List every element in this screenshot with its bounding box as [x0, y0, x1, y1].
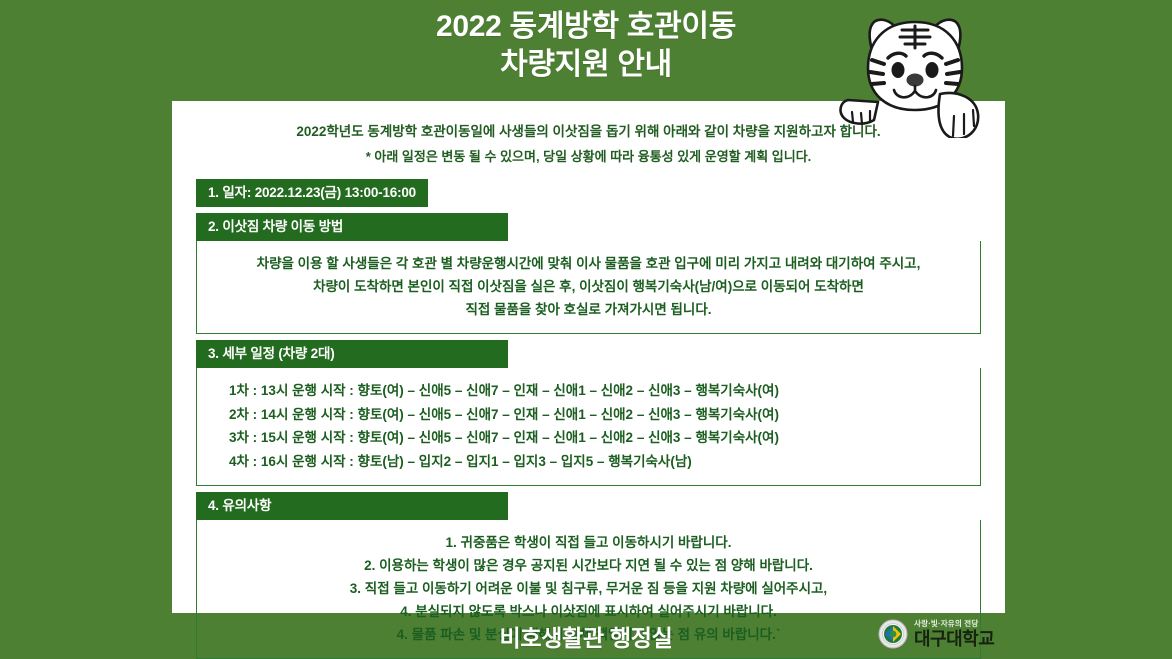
note-line-1: 1. 귀중품은 학생이 직접 들고 이동하시기 바랍니다.: [207, 531, 970, 554]
poster-footer: 비호생활관 행정실 사랑·빛·자유의 전당 대구대학교: [0, 613, 1172, 659]
university-brand: 사랑·빛·자유의 전당 대구대학교: [878, 619, 994, 649]
method-line-3: 직접 물품을 찾아 호실로 가져가시면 됩니다.: [207, 298, 970, 321]
section-schedule-heading: 3. 세부 일정 (차량 2대): [196, 340, 508, 368]
poster-title: 2022 동계방학 호관이동 차량지원 안내: [0, 8, 1172, 84]
schedule-row-2: 2차 : 14시 운행 시작 : 향토(여) – 신애5 – 신애7 – 인재 …: [229, 403, 970, 427]
daegu-university-emblem-icon: [878, 619, 908, 649]
intro-paragraph: 2022학년도 동계방학 호관이동일에 사생들의 이삿짐을 돕기 위해 아래와 …: [172, 101, 1005, 169]
schedule-row-4: 4차 : 16시 운행 시작 : 향토(남) – 입지2 – 입지1 – 입지3…: [229, 450, 970, 474]
section-schedule: 3. 세부 일정 (차량 2대) 1차 : 13시 운행 시작 : 향토(여) …: [196, 340, 981, 486]
brand-text-block: 사랑·빛·자유의 전당 대구대학교: [914, 620, 994, 648]
brand-tagline: 사랑·빛·자유의 전당: [914, 620, 994, 628]
section-method-body: 차량을 이용 할 사생들은 각 호관 별 차량운행시간에 맞춰 이사 물품을 호…: [196, 241, 981, 334]
intro-line-2: * 아래 일정은 변동 될 수 있으며, 당일 상황에 따라 융통성 있게 운영…: [172, 144, 1005, 169]
intro-line-1: 2022학년도 동계방학 호관이동일에 사생들의 이삿짐을 돕기 위해 아래와 …: [172, 119, 1005, 144]
schedule-row-3: 3차 : 15시 운행 시작 : 향토(여) – 신애5 – 신애7 – 인재 …: [229, 426, 970, 450]
note-line-3: 3. 직접 들고 이동하기 어려운 이불 및 침구류, 무거운 짐 등을 지원 …: [207, 577, 970, 600]
section-date: 1. 일자: 2022.12.23(금) 13:00-16:00: [196, 179, 981, 207]
poster-title-line-2: 차량지원 안내: [0, 46, 1172, 84]
content-panel: 2022학년도 동계방학 호관이동일에 사생들의 이삿짐을 돕기 위해 아래와 …: [172, 101, 1005, 613]
poster-title-line-1: 2022 동계방학 호관이동: [0, 8, 1172, 46]
section-schedule-body: 1차 : 13시 운행 시작 : 향토(여) – 신애5 – 신애7 – 인재 …: [196, 368, 981, 486]
section-method-heading: 2. 이삿짐 차량 이동 방법: [196, 213, 508, 241]
section-date-heading: 1. 일자: 2022.12.23(금) 13:00-16:00: [196, 179, 428, 207]
section-method: 2. 이삿짐 차량 이동 방법 차량을 이용 할 사생들은 각 호관 별 차량운…: [196, 213, 981, 334]
brand-name: 대구대학교: [914, 630, 994, 648]
schedule-row-1: 1차 : 13시 운행 시작 : 향토(여) – 신애5 – 신애7 – 인재 …: [229, 379, 970, 403]
method-line-2: 차량이 도착하면 본인이 직접 이삿짐을 실은 후, 이삿짐이 행복기숙사(남/…: [207, 275, 970, 298]
poster-root: 2022 동계방학 호관이동 차량지원 안내: [0, 0, 1172, 659]
method-line-1: 차량을 이용 할 사생들은 각 호관 별 차량운행시간에 맞춰 이사 물품을 호…: [207, 252, 970, 275]
section-notes-heading: 4. 유의사항: [196, 492, 508, 520]
note-line-2: 2. 이용하는 학생이 많은 경우 공지된 시간보다 지연 될 수 있는 점 양…: [207, 554, 970, 577]
sections-container: 1. 일자: 2022.12.23(금) 13:00-16:00 2. 이삿짐 …: [172, 179, 1005, 659]
footer-office-name: 비호생활관 행정실: [0, 619, 1172, 653]
